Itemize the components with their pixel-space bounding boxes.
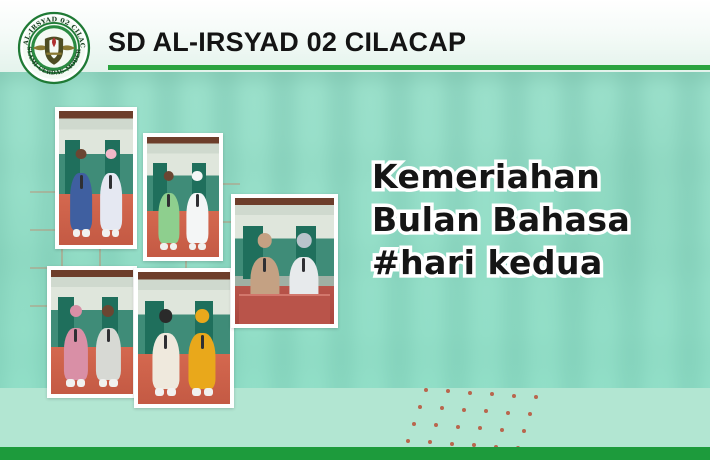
student-shoe (73, 229, 81, 237)
student-shoe (82, 229, 90, 237)
student-shoe (77, 379, 85, 386)
student-figure (186, 171, 209, 250)
student-shoe (160, 243, 167, 250)
student-figure (157, 171, 180, 250)
grid-dot (446, 389, 450, 393)
grid-dot (424, 388, 428, 392)
microphone (201, 335, 204, 349)
headline-line-1: Kemeriahan (372, 156, 702, 199)
student-head (105, 149, 116, 160)
bottom-green-bar (0, 447, 710, 460)
student-figure (151, 309, 180, 396)
student-shoe (155, 388, 164, 396)
headline-line-2: Bulan Bahasa (372, 199, 702, 242)
microphone (109, 175, 112, 189)
grid-dot (462, 408, 466, 412)
student-figure (188, 309, 217, 396)
student-shoe (189, 243, 196, 250)
student-head (70, 305, 82, 317)
microphone (263, 258, 266, 271)
photo-blue-robe-boy-and-pink-hijab-girl (55, 107, 137, 249)
grid-dot (500, 428, 504, 432)
photo-scene (235, 198, 334, 324)
grid-dot (468, 391, 472, 395)
microphone (164, 335, 167, 349)
student-shoe (170, 243, 177, 250)
microphone (80, 175, 83, 189)
student-shoe (167, 388, 176, 396)
student-head (192, 171, 203, 182)
school-crest-logo: SD AL-IRSYAD 02 CILACAP ISLAMI-CERDAS-MO… (16, 10, 92, 86)
headline-line-3: #hari kedua (372, 242, 702, 285)
student-shoe (66, 379, 74, 386)
grid-dot (512, 394, 516, 398)
grid-dot (412, 422, 416, 426)
microphone (196, 194, 199, 207)
microphone (302, 258, 305, 271)
grid-dot (428, 440, 432, 444)
grid-dot (528, 412, 532, 416)
poster-canvas: SD AL-IRSYAD 02 CILACAP ISLAMI-CERDAS-MO… (0, 0, 710, 460)
student-head (102, 305, 114, 317)
grid-dot (534, 395, 538, 399)
grid-dot (522, 429, 526, 433)
student-head (76, 149, 87, 160)
photo-scene (59, 111, 133, 245)
student-figure (99, 149, 123, 237)
grid-dot (490, 392, 494, 396)
grid-dot (440, 406, 444, 410)
photo-green-shirt-boy-and-white-hijab-girl (143, 133, 223, 261)
student-shoe (112, 229, 120, 237)
student-shoe (192, 388, 201, 396)
photo-pink-dress-girl-and-grey-shirt-boy (47, 266, 137, 398)
header-underline (108, 65, 710, 70)
microphone (107, 329, 110, 342)
grid-dot (418, 405, 422, 409)
student-figure (62, 305, 88, 387)
page-title: SD AL-IRSYAD 02 CILACAP (108, 27, 466, 58)
student-shoe (204, 388, 213, 396)
grid-dot (506, 411, 510, 415)
student-figure (69, 149, 93, 237)
student-shoe (102, 229, 110, 237)
photo-scene (138, 272, 230, 404)
student-head (297, 233, 312, 248)
grid-dot (406, 439, 410, 443)
student-shoe (109, 379, 117, 386)
photo-two-girls-on-red-stage (231, 194, 338, 328)
stage-platform (239, 294, 330, 324)
grid-dot (434, 423, 438, 427)
grid-dot (456, 425, 460, 429)
photo-scene (147, 137, 219, 257)
decorative-dot-grid (398, 386, 523, 452)
grid-dot (484, 409, 488, 413)
photo-scene (51, 270, 133, 394)
grid-dot (478, 426, 482, 430)
headline-text: Kemeriahan Bulan Bahasa #hari kedua (372, 156, 702, 285)
student-head (163, 171, 174, 182)
photo-white-koko-boy-and-yellow-dress-girl (134, 268, 234, 408)
grid-dot (450, 442, 454, 446)
student-head (196, 309, 210, 323)
student-head (257, 233, 272, 248)
microphone (167, 194, 170, 207)
microphone (74, 329, 77, 342)
student-figure (95, 305, 121, 387)
student-shoe (198, 243, 205, 250)
student-shoe (99, 379, 107, 386)
student-head (159, 309, 173, 323)
